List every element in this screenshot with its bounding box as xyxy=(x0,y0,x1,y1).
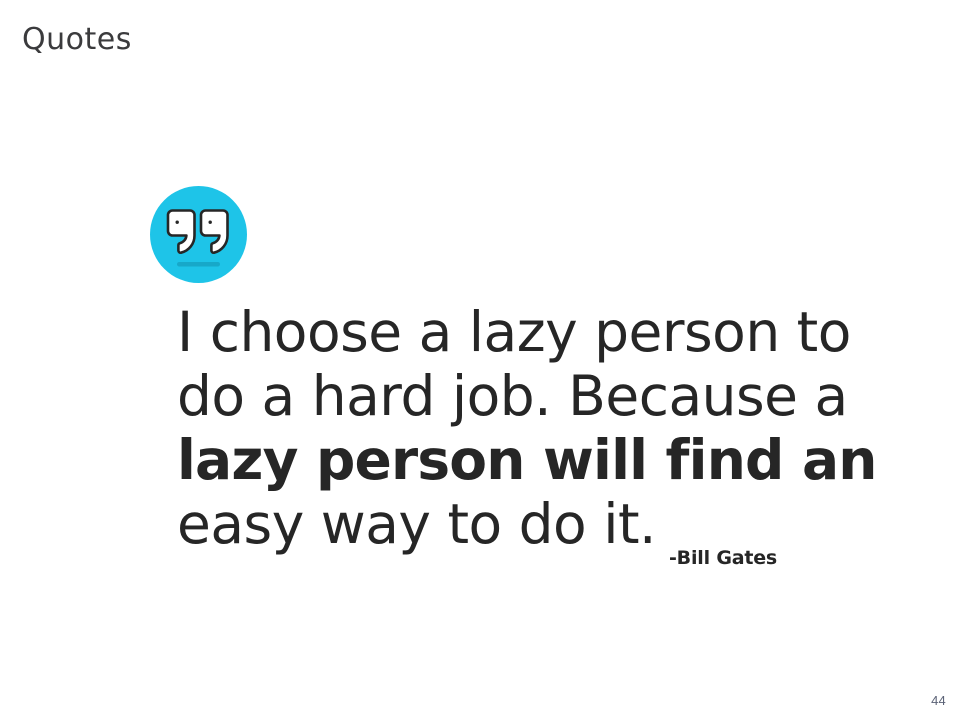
quote-text-block: I choose a lazy person to do a hard job.… xyxy=(177,300,877,556)
page-title: Quotes xyxy=(22,22,132,58)
quote-line-2: do a hard job. Because a xyxy=(177,364,877,428)
slide-canvas: Quotes I choose a lazy person to do a ha… xyxy=(0,0,960,720)
quote-attribution: -Bill Gates xyxy=(669,547,777,569)
page-number: 44 xyxy=(931,693,946,708)
double-quote-icon xyxy=(150,186,247,283)
quote-line-3-emphasis: lazy person will find an xyxy=(177,428,877,492)
quote-line-1: I choose a lazy person to xyxy=(177,300,877,364)
